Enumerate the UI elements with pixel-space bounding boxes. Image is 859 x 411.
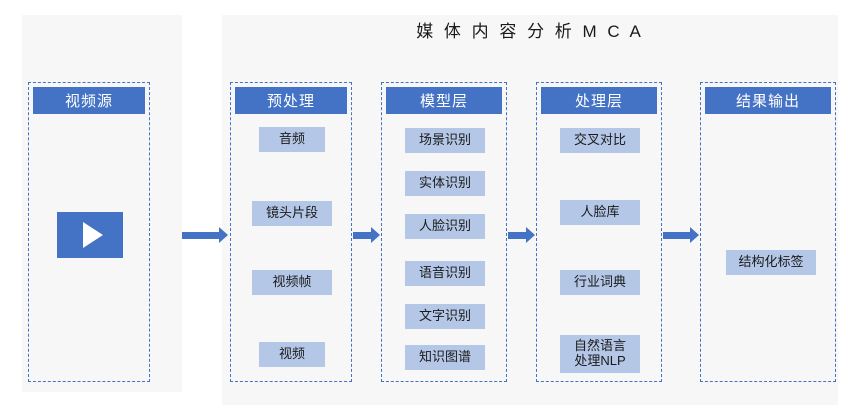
node-face-database[interactable]: 人脸库	[560, 200, 640, 225]
node-speech-recognition[interactable]: 语音识别	[405, 261, 485, 286]
arrow-head	[526, 227, 535, 243]
stage-body-preprocessing: 音频 镜头片段 视频帧 视频	[231, 114, 351, 381]
arrow-shaft	[663, 232, 690, 239]
stage-header-model-layer: 模型层	[386, 87, 502, 114]
node-face-recognition[interactable]: 人脸识别	[405, 214, 485, 239]
arrow-video-source-to-preprocessing	[182, 227, 228, 243]
node-video[interactable]: 视频	[259, 342, 325, 367]
stage-body-result-output: 结构化标签	[701, 114, 835, 381]
node-knowledge-graph[interactable]: 知识图谱	[405, 345, 485, 370]
node-video-frame[interactable]: 视频帧	[252, 270, 332, 295]
node-entity-recognition[interactable]: 实体识别	[405, 171, 485, 196]
stage-result-output: 结果输出 结构化标签	[700, 82, 836, 382]
stage-processing-layer: 处理层 交叉对比 人脸库 行业词典 自然语言 处理NLP	[536, 82, 662, 382]
stage-body-model-layer: 场景识别 实体识别 人脸识别 语音识别 文字识别 知识图谱	[382, 114, 506, 381]
arrow-head	[219, 227, 228, 243]
diagram-title: 媒 体 内 容 分 析 M C A	[222, 17, 838, 42]
node-structured-tags[interactable]: 结构化标签	[726, 250, 816, 275]
arrow-shaft	[353, 232, 371, 239]
stage-body-processing-layer: 交叉对比 人脸库 行业词典 自然语言 处理NLP	[537, 114, 661, 381]
stage-header-processing-layer: 处理层	[541, 87, 657, 114]
arrow-model-layer-to-processing-layer	[508, 227, 535, 243]
node-nlp[interactable]: 自然语言 处理NLP	[560, 335, 640, 373]
play-icon	[83, 222, 103, 248]
node-text-recognition[interactable]: 文字识别	[405, 304, 485, 329]
stage-header-result-output: 结果输出	[705, 87, 831, 114]
arrow-shaft	[182, 232, 219, 239]
stage-header-video-source: 视频源	[33, 87, 145, 114]
node-audio[interactable]: 音频	[259, 127, 325, 152]
arrow-shaft	[508, 232, 526, 239]
node-cross-comparison[interactable]: 交叉对比	[560, 128, 640, 153]
arrow-processing-layer-to-result-output	[663, 227, 699, 243]
stage-header-preprocessing: 预处理	[235, 87, 347, 114]
arrow-preprocessing-to-model-layer	[353, 227, 380, 243]
stage-preprocessing: 预处理 音频 镜头片段 视频帧 视频	[230, 82, 352, 382]
arrow-head	[371, 227, 380, 243]
arrow-head	[690, 227, 699, 243]
node-industry-lexicon[interactable]: 行业词典	[560, 270, 640, 295]
node-scene-recognition[interactable]: 场景识别	[405, 128, 485, 153]
stage-model-layer: 模型层 场景识别 实体识别 人脸识别 语音识别 文字识别 知识图谱	[381, 82, 507, 382]
video-thumbnail[interactable]	[57, 212, 123, 258]
node-shot-segment[interactable]: 镜头片段	[252, 201, 332, 226]
